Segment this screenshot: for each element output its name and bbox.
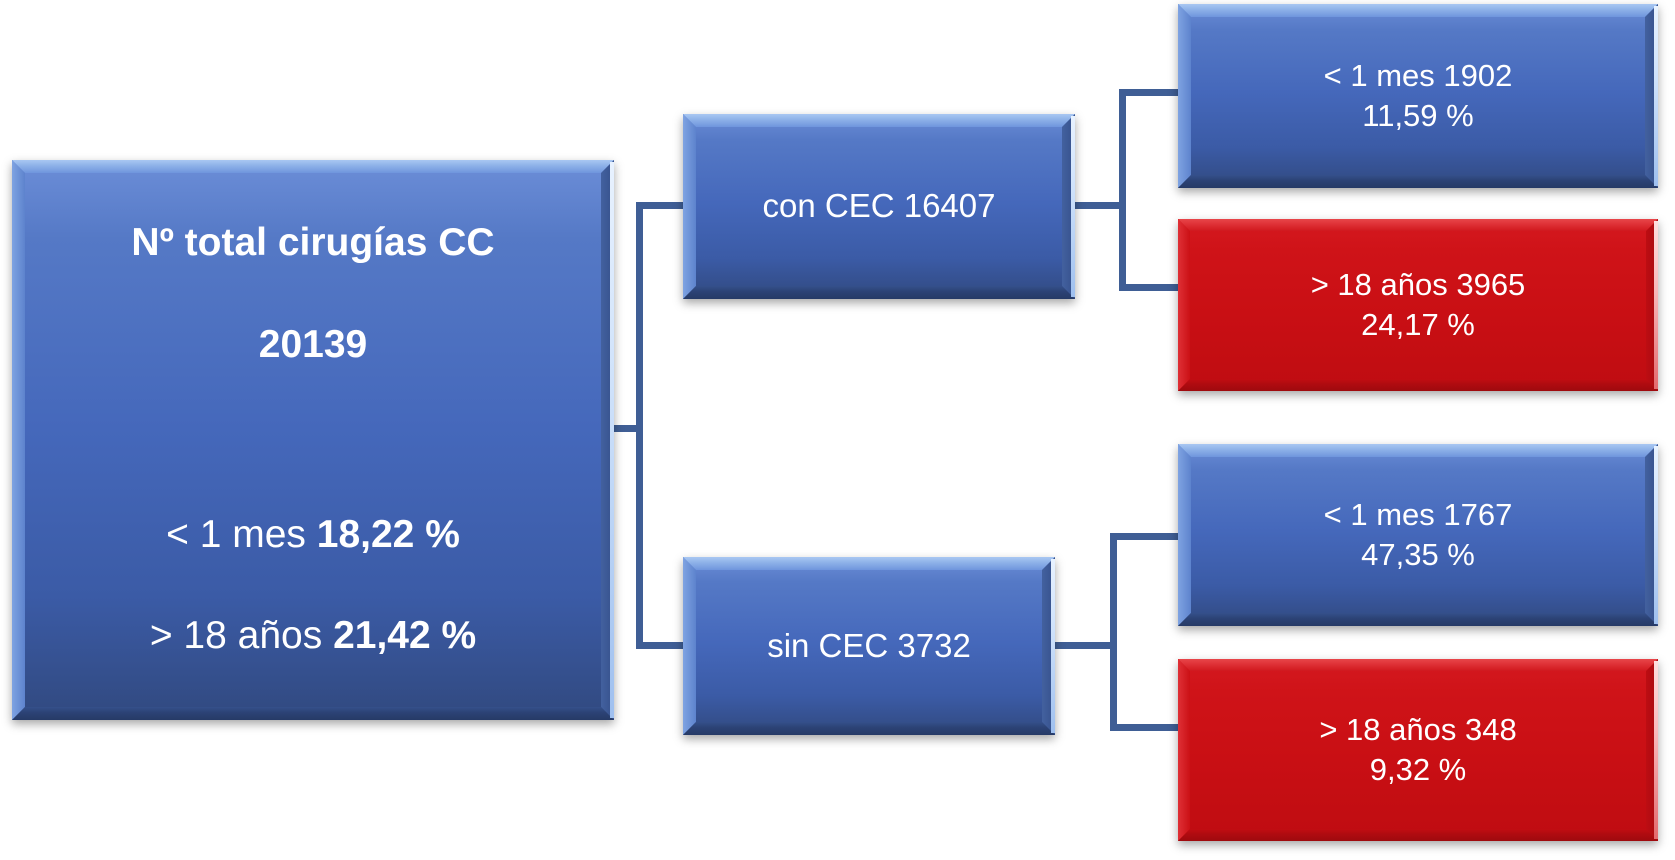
node-con-cec-adult-text: > 18 años 3965 24,17 %	[1178, 226, 1658, 385]
leaf-line-2: 24,17 %	[1188, 305, 1648, 345]
root-stat-newborn: < 1 mes 18,22 %	[22, 510, 604, 561]
bevel-top	[1178, 4, 1658, 17]
connector-sin-cec-to-leaf-4	[1110, 724, 1185, 731]
bevel-bottom	[1178, 829, 1658, 841]
bevel-bottom	[1178, 175, 1658, 188]
root-stat-newborn-label: < 1 mes	[166, 513, 306, 556]
bevel-top	[1178, 659, 1658, 671]
node-total-surgeries-text: Nº total cirugías CC 20139 < 1 mes 18,22…	[12, 168, 614, 713]
node-sin-cec-newborn-text: < 1 mes 1767 47,35 %	[1178, 456, 1658, 615]
bevel-top	[683, 114, 1075, 127]
root-total-line: 20139	[22, 320, 604, 371]
connector-sin-cec-stub	[1050, 642, 1116, 649]
node-sin-cec-label: sin CEC 3732	[683, 625, 1055, 667]
connector-con-cec-split-vertical	[1119, 89, 1126, 291]
leaf-line-2: 11,59 %	[1188, 96, 1648, 136]
root-stat-adult-value: 21,42 %	[333, 614, 476, 657]
connector-con-cec-stub	[1068, 202, 1126, 209]
node-con-cec-newborn[interactable]: < 1 mes 1902 11,59 %	[1178, 4, 1658, 188]
leaf-line-1: > 18 años 348	[1319, 712, 1516, 747]
node-con-cec-newborn-text: < 1 mes 1902 11,59 %	[1178, 17, 1658, 176]
bevel-top	[683, 557, 1055, 570]
leaf-line-2: 9,32 %	[1188, 750, 1648, 790]
connector-sin-cec-to-leaf-3	[1110, 533, 1185, 540]
leaf-line-1: < 1 mes 1902	[1324, 58, 1513, 93]
node-sin-cec-adult-text: > 18 años 348 9,32 %	[1178, 671, 1658, 830]
root-stat-adult-label: > 18 años	[150, 614, 322, 657]
node-sin-cec-adult[interactable]: > 18 años 348 9,32 %	[1178, 659, 1658, 841]
node-sin-cec-newborn[interactable]: < 1 mes 1767 47,35 %	[1178, 444, 1658, 626]
diagram-canvas: Nº total cirugías CC 20139 < 1 mes 18,22…	[0, 0, 1675, 860]
leaf-line-1: < 1 mes 1767	[1324, 497, 1513, 532]
connector-con-cec-to-leaf-2	[1119, 284, 1185, 291]
node-con-cec-label: con CEC 16407	[683, 185, 1075, 227]
leaf-line-1: > 18 años 3965	[1311, 267, 1526, 302]
node-total-surgeries[interactable]: Nº total cirugías CC 20139 < 1 mes 18,22…	[12, 160, 614, 720]
node-sin-cec[interactable]: sin CEC 3732	[683, 557, 1055, 735]
connector-trunk-vertical	[636, 205, 643, 649]
bevel-bottom	[683, 286, 1075, 299]
bevel-bottom	[1178, 613, 1658, 626]
root-stat-adult: > 18 años 21,42 %	[22, 611, 604, 662]
node-con-cec-adult[interactable]: > 18 años 3965 24,17 %	[1178, 219, 1658, 391]
root-stat-newborn-value: 18,22 %	[317, 513, 460, 556]
leaf-line-2: 47,35 %	[1188, 535, 1648, 575]
bevel-bottom	[683, 722, 1055, 735]
root-spacer	[22, 421, 604, 459]
connector-con-cec-to-leaf-1	[1119, 89, 1185, 96]
connector-sin-cec-split-vertical	[1110, 533, 1117, 731]
node-con-cec[interactable]: con CEC 16407	[683, 114, 1075, 299]
root-title-line: Nº total cirugías CC	[22, 218, 604, 269]
